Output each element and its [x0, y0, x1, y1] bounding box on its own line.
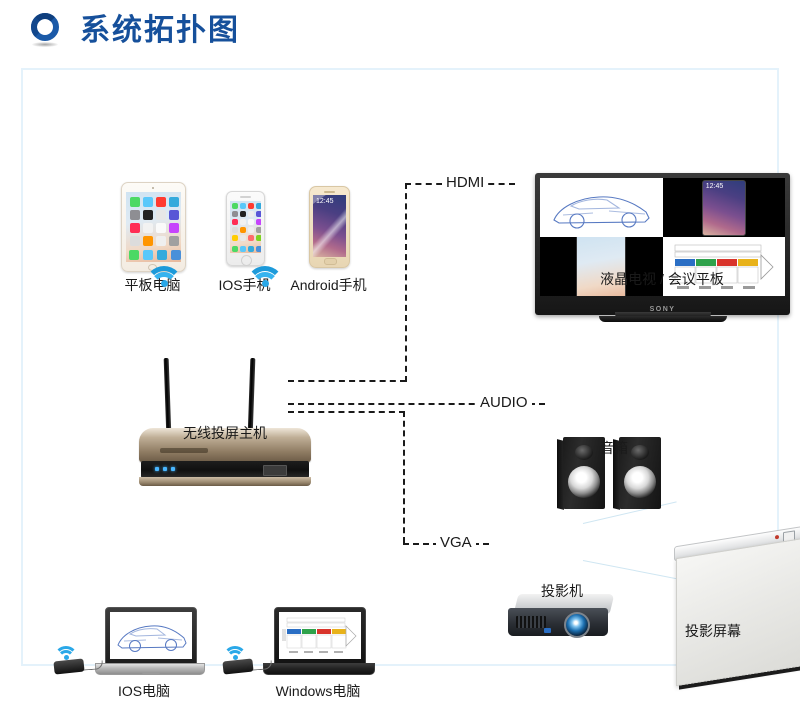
- ring-shadow: [32, 42, 58, 47]
- iphone-app-grid: [232, 203, 261, 241]
- iphone-dock: [232, 246, 261, 252]
- link-label-audio: AUDIO: [476, 395, 532, 411]
- projector-badge: [544, 628, 551, 633]
- mac-label: IOS电脑: [89, 682, 199, 700]
- hdmi-line-segment-h1: [288, 380, 406, 382]
- win-label: Windows电脑: [243, 682, 393, 700]
- speakers-label: 音箱: [574, 439, 654, 457]
- iphone-speaker-icon: [240, 196, 251, 198]
- diagram-frame: HDMI AUDIO VGA 平: [21, 68, 779, 666]
- android-speaker-icon: [324, 191, 335, 193]
- router-base: [139, 477, 311, 486]
- car-sketch-icon: [114, 616, 188, 656]
- wifi-signal-icon-left: [148, 266, 180, 290]
- android-wallpaper-swoosh: [313, 201, 346, 257]
- projector-vents: [516, 616, 546, 628]
- vga-line-segment-h1: [288, 411, 405, 413]
- tablet-camera-icon: [152, 187, 154, 189]
- projector-lens-icon: [564, 612, 590, 638]
- table-chart-icon: [281, 615, 359, 657]
- macbook-device[interactable]: [95, 607, 205, 677]
- speaker-woofer-icon: [624, 466, 656, 498]
- ring-shape: [31, 13, 59, 41]
- page-title: 系统拓扑图: [80, 11, 240, 51]
- blue-ring-icon: [31, 13, 67, 49]
- wifi-dongle-mac[interactable]: [54, 650, 100, 676]
- android-phone-device[interactable]: 12:45: [309, 186, 350, 268]
- screen-power-led-icon: [775, 535, 779, 540]
- tv-bezel: 12:45: [535, 173, 790, 315]
- iphone-device[interactable]: [226, 191, 265, 266]
- iphone-home-button[interactable]: [241, 255, 252, 266]
- projector-label: 投影机: [517, 582, 607, 600]
- wifi-signal-icon: [56, 646, 76, 661]
- windows-laptop-screen: [279, 612, 361, 659]
- tv-tile-phone-mirror: 12:45: [663, 178, 786, 237]
- projection-screen-device[interactable]: [666, 536, 800, 701]
- tv-phone-clock-text: 12:45: [706, 183, 724, 190]
- android-screen: 12:45: [313, 195, 346, 257]
- car-sketch-icon: [549, 184, 654, 232]
- link-label-hdmi: HDMI: [442, 175, 488, 191]
- hdmi-line-segment-v: [405, 183, 407, 382]
- page-header: 系统拓扑图: [0, 0, 800, 62]
- tablet-screen: [126, 192, 181, 262]
- router-port: [263, 465, 287, 476]
- wifi-dongle-win[interactable]: [223, 650, 269, 676]
- windows-laptop-base: [263, 663, 375, 675]
- speaker-woofer-icon: [568, 466, 600, 498]
- android-home-button[interactable]: [324, 258, 337, 265]
- router-label: 无线投屏主机: [149, 424, 301, 442]
- router-front-panel: [141, 461, 309, 478]
- router-led-indicators: [155, 467, 175, 471]
- projector-device[interactable]: [508, 594, 614, 642]
- iphone-screen: [230, 201, 261, 253]
- macbook-base: [95, 663, 205, 675]
- tv-tile-car-sketch: [540, 178, 663, 237]
- tablet-device[interactable]: [121, 182, 186, 272]
- lcd-tv-device[interactable]: 12:45: [535, 173, 790, 321]
- screen-cloth: [676, 538, 800, 686]
- pscreen-label: 投影屏幕: [653, 622, 773, 640]
- macbook-screen: [110, 612, 192, 659]
- tv-label: 液晶电视 / 会议平板: [533, 270, 791, 288]
- vga-line-segment-v: [403, 411, 405, 543]
- wifi-signal-icon: [225, 646, 245, 661]
- tablet-app-grid: [130, 197, 179, 246]
- android-label: Android手机: [268, 276, 389, 294]
- tv-stand-foot: [599, 316, 727, 322]
- windows-laptop-device[interactable]: [263, 607, 375, 677]
- tablet-dock: [129, 250, 181, 260]
- wifi-signal-icon-right: [249, 266, 281, 290]
- link-label-vga: VGA: [436, 535, 476, 551]
